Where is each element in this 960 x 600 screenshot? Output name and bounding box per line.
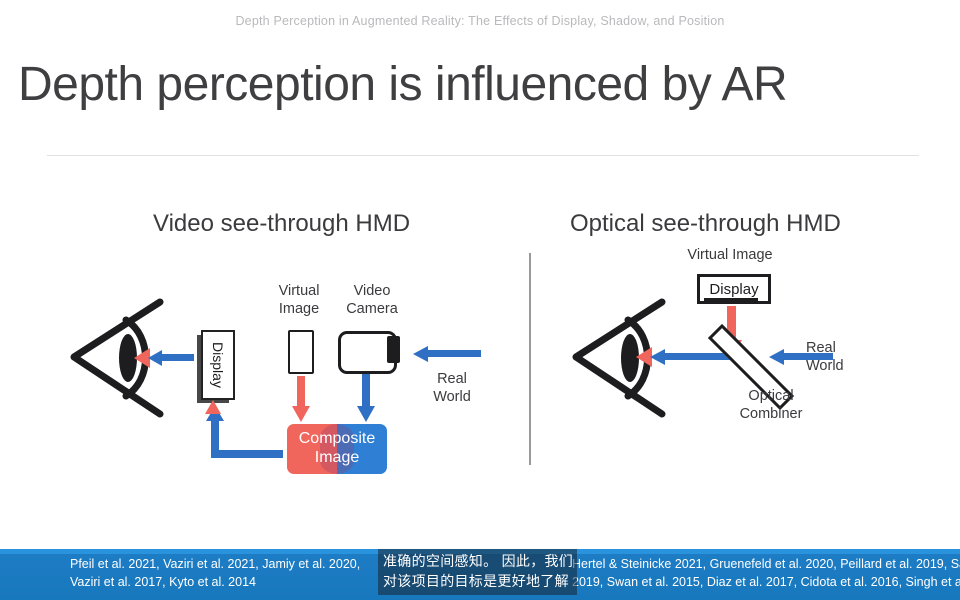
video-camera-lens bbox=[387, 336, 400, 363]
composite-image-label: Composite Image bbox=[287, 424, 387, 474]
arrow-red-virtual-to-composite bbox=[292, 376, 310, 424]
page-title: Depth perception is influenced by AR bbox=[18, 57, 787, 112]
citations-left: Pfeil et al. 2021, Vaziri et al. 2021, J… bbox=[70, 556, 360, 592]
video-camera-label: Video Camera bbox=[337, 283, 407, 318]
real-world-label-video: Real World bbox=[418, 371, 486, 406]
arrow-blue-realworld-video bbox=[413, 346, 481, 362]
subtitle-overlay: 准确的空间感知。 因此，我们 对该项目的目标是更好地了解 bbox=[378, 549, 577, 595]
running-head: Depth Perception in Augmented Reality: T… bbox=[0, 14, 960, 28]
panel-divider bbox=[529, 253, 531, 465]
virtual-image-panel bbox=[288, 330, 314, 374]
real-world-label-optical: Real World bbox=[806, 340, 868, 375]
optical-combiner-label: Optical Combiner bbox=[727, 388, 815, 423]
slide-canvas: Depth Perception in Augmented Reality: T… bbox=[0, 0, 960, 600]
arrow-red-composite-to-display bbox=[205, 400, 223, 416]
video-see-through-heading: Video see-through HMD bbox=[153, 210, 410, 238]
arrow-blue-camera-to-composite bbox=[357, 374, 375, 424]
display-stand bbox=[704, 298, 758, 304]
display-box-optical-label: Display bbox=[709, 281, 758, 298]
display-box-video-label: Display bbox=[210, 342, 226, 388]
arrow-blue-display-to-eye bbox=[148, 350, 194, 366]
display-box-video: Display bbox=[201, 330, 235, 400]
virtual-image-label-video: Virtual Image bbox=[265, 283, 333, 318]
virtual-image-label-optical: Virtual Image bbox=[672, 247, 788, 265]
composite-image-block: Composite Image bbox=[287, 424, 387, 474]
title-divider bbox=[47, 155, 919, 156]
optical-see-through-heading: Optical see-through HMD bbox=[570, 210, 841, 238]
citations-right: Hertel & Steinicke 2021, Gruenefeld et a… bbox=[572, 556, 960, 592]
